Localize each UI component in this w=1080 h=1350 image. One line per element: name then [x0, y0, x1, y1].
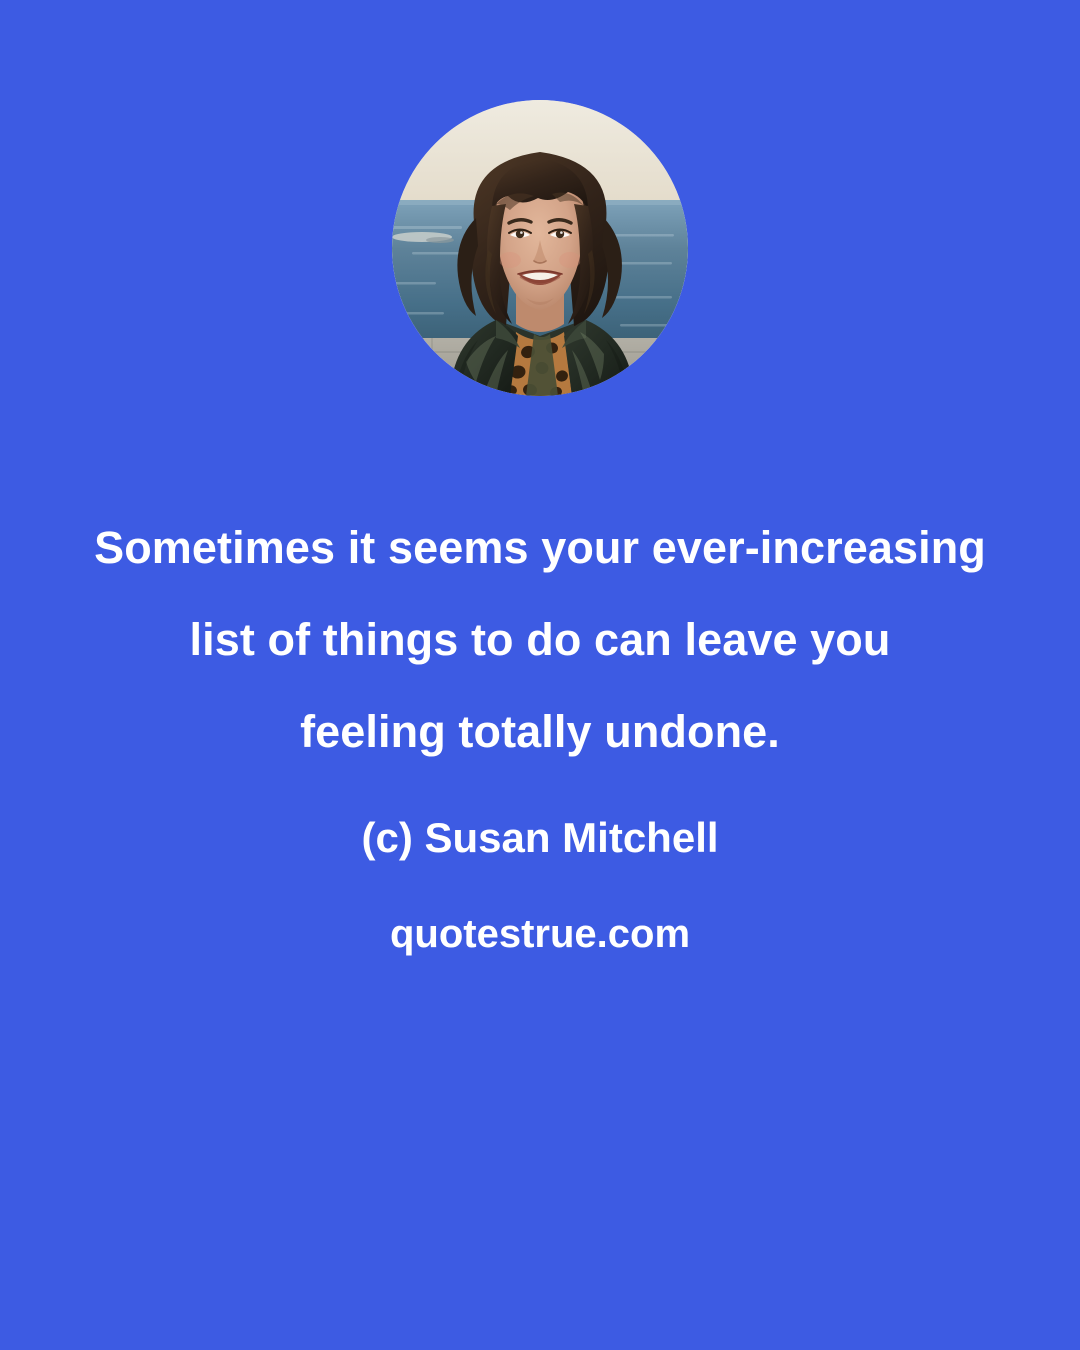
source-website[interactable]: quotestrue.com [0, 904, 1080, 964]
author-portrait-avatar [392, 100, 688, 396]
quote-line-1: Sometimes it seems your ever-increasing [0, 502, 1080, 594]
quote-line-2: list of things to do can leave you [0, 594, 1080, 686]
quote-card: Sometimes it seems your ever-increasing … [0, 0, 1080, 1350]
portrait-photo-icon [392, 100, 688, 396]
quote-line-3: feeling totally undone. [0, 686, 1080, 778]
quote-text: Sometimes it seems your ever-increasing … [0, 502, 1080, 778]
quote-attribution: (c) Susan Mitchell [0, 808, 1080, 868]
portrait-container [392, 100, 688, 396]
